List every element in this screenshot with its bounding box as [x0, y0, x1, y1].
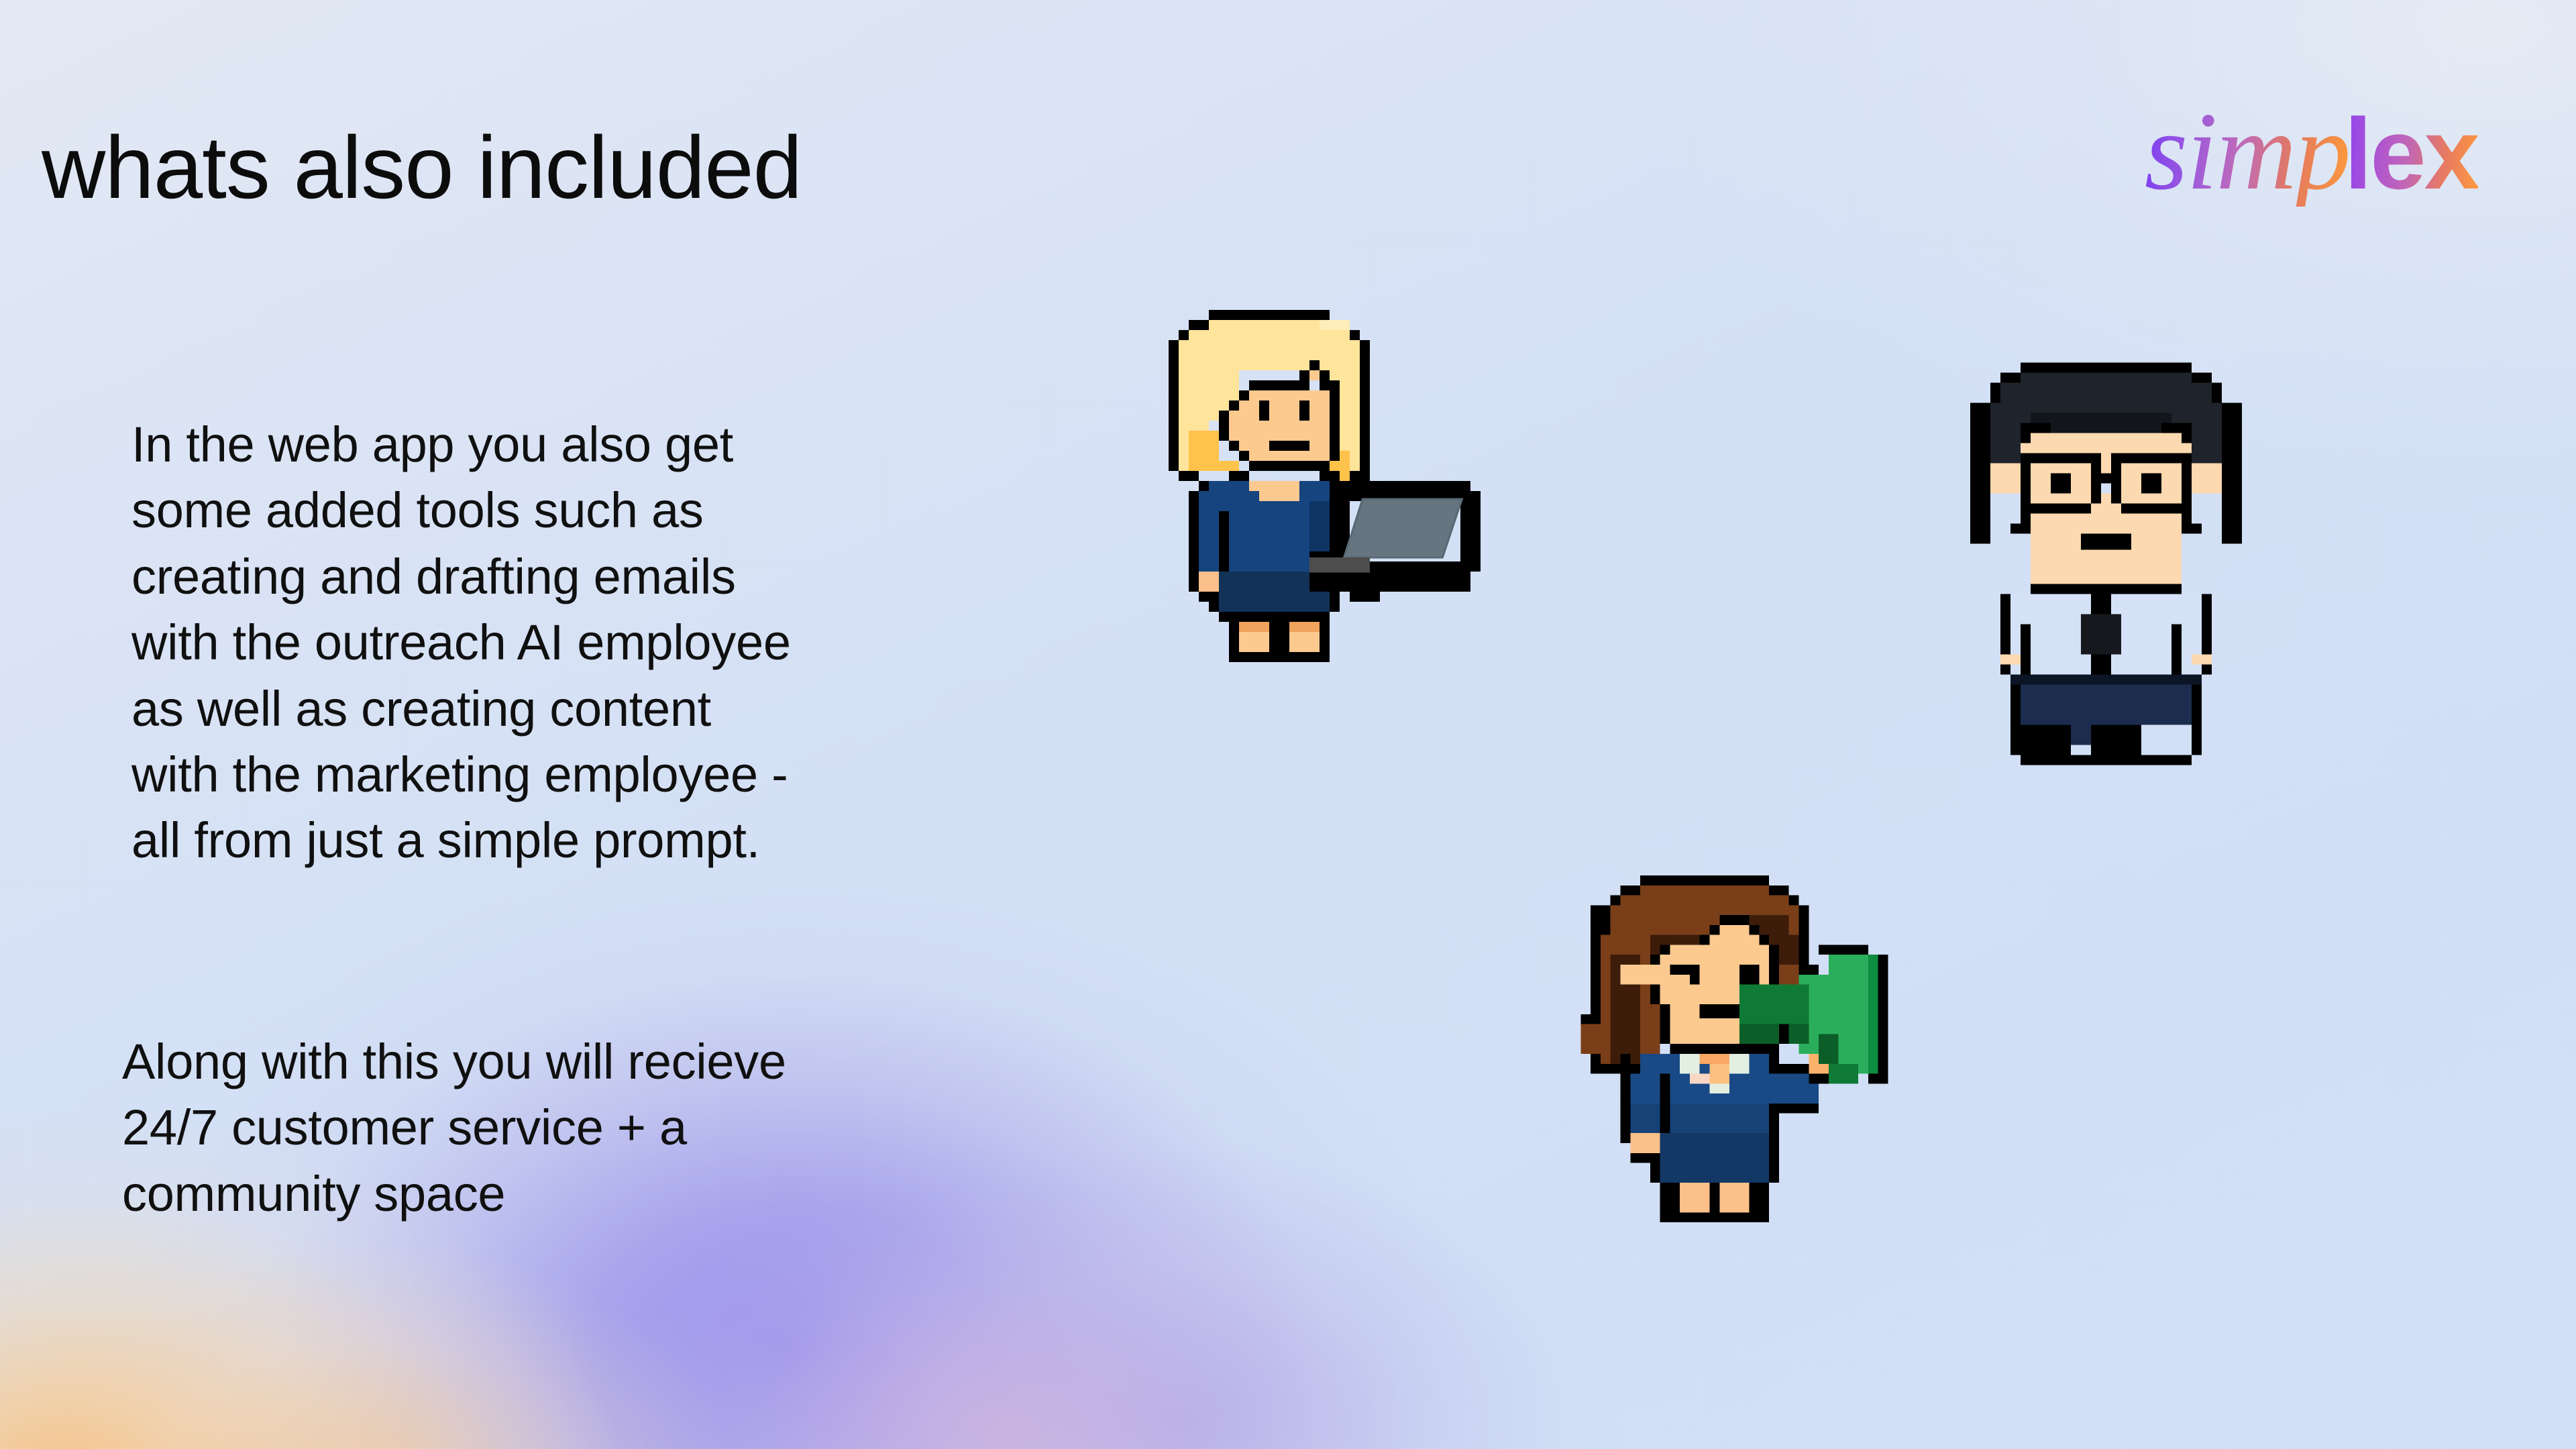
brand-logo: simplex	[2145, 95, 2478, 207]
slide-canvas: whats also included simplex In the web a…	[0, 0, 2576, 1449]
body-paragraph-primary: In the web app you also get some added t…	[131, 412, 791, 874]
pixel-character-manager-with-glasses	[1960, 361, 2242, 777]
logo-text-lex: lex	[2344, 103, 2478, 204]
logo-text-simp: simp	[2145, 95, 2350, 207]
pixel-character-analyst-with-laptop	[1138, 310, 1491, 793]
body-paragraph-secondary: Along with this you will recieve 24/7 cu…	[122, 1029, 786, 1227]
pixel-character-marketer-with-megaphone	[1580, 875, 1929, 1322]
page-title: whats also included	[42, 123, 802, 212]
